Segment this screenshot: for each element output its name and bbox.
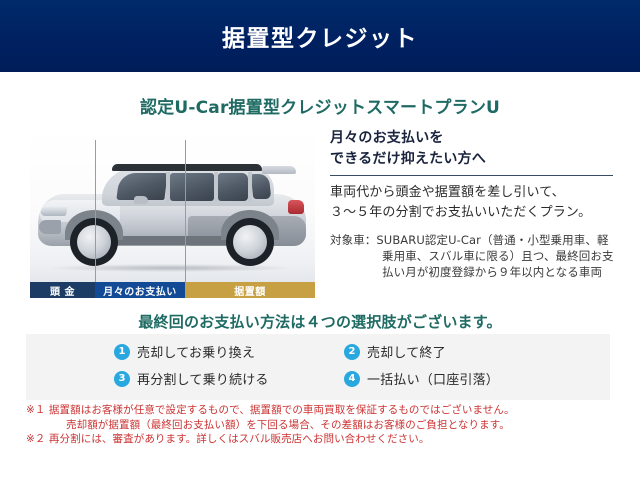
option-number-badge-1: 1	[114, 344, 130, 360]
plan-description-heading-line2: できるだけ抑えたい方へ	[330, 149, 615, 170]
car-rear-spoiler	[262, 166, 296, 174]
vehicle-photo	[30, 130, 315, 282]
option-number-badge-2: 2	[344, 344, 360, 360]
option-label-2: 売却して終了	[367, 342, 446, 361]
plan-subtitle: 認定U-Car据置型クレジットスマートプランU	[0, 93, 640, 118]
eligible-vehicle-note: 対象車：SUBARU認定U-Car（普通・小型乗用車、軽乗用車、スバル車に限る）…	[330, 232, 615, 280]
car-window-middle	[170, 173, 214, 201]
option-item-2: 2 売却して終了	[344, 342, 574, 361]
car-grille	[39, 220, 61, 234]
page-header: 据置型クレジット	[0, 0, 640, 72]
options-grid: 1 売却してお乗り換え 2 売却して終了 3 再分割して乗り続ける 4 一括払い…	[114, 342, 584, 388]
car-roof-rail	[112, 164, 262, 171]
segment-residual-value: 据置額	[185, 282, 315, 298]
option-label-1: 売却してお乗り換え	[137, 342, 255, 361]
option-item-4: 4 一括払い（口座引落）	[344, 369, 574, 388]
plan-description-heading: 月々のお支払いを できるだけ抑えたい方へ	[330, 128, 615, 170]
page-title: 据置型クレジット	[0, 0, 640, 72]
car-pillar-b	[166, 172, 170, 202]
option-item-3: 3 再分割して乗り続ける	[114, 369, 344, 388]
plan-description-body: 車両代から頭金や据置額を差し引いて、 ３～５年の分割でお支払いいただくプラン。	[330, 183, 615, 223]
suv-illustration	[38, 160, 308, 268]
car-window-rear	[218, 173, 248, 201]
car-taillight	[288, 200, 304, 214]
cost-segment-bar: 頭 金 月々のお支払い 据置額	[30, 282, 315, 298]
segment-down-payment: 頭 金	[30, 282, 95, 298]
plan-description-body-line1: 車両代から頭金や据置額を差し引いて、	[330, 183, 615, 203]
footnote-line-1: ※１ 据置額はお客様が任意で設定するもので、据置額での車両買取を保証するものでは…	[26, 404, 616, 418]
final-payment-options-panel: 1 売却してお乗り換え 2 売却して終了 3 再分割して乗り続ける 4 一括払い…	[26, 334, 610, 400]
car-rear-wheel	[226, 218, 274, 266]
car-side-mirror	[134, 196, 148, 204]
footnote-line-2: 売却額が据置額（最終回お支払い額）を下回る場合、その差額はお客様のご負担となりま…	[26, 419, 616, 433]
car-headlight	[40, 205, 68, 216]
vehicle-cost-breakdown-figure: 頭 金 月々のお支払い 据置額	[30, 130, 315, 298]
option-item-1: 1 売却してお乗り換え	[114, 342, 344, 361]
segment-divider-1	[95, 140, 96, 282]
option-label-3: 再分割して乗り続ける	[137, 369, 269, 388]
segment-monthly-payment: 月々のお支払い	[95, 282, 185, 298]
plan-description-column: 月々のお支払いを できるだけ抑えたい方へ 車両代から頭金や据置額を差し引いて、 …	[330, 128, 615, 280]
option-number-badge-4: 4	[344, 371, 360, 387]
credit-plan-infographic: 据置型クレジット 認定U-Car据置型クレジットスマートプランU	[0, 0, 640, 480]
option-number-badge-3: 3	[114, 371, 130, 387]
car-pillar-c	[214, 172, 218, 202]
footnote-line-3: ※２ 再分割には、審査があります。詳しくはスバル販売店へお問い合わせください。	[26, 433, 616, 447]
footnotes: ※１ 据置額はお客様が任意で設定するもので、据置額での車両買取を保証するものでは…	[26, 404, 616, 447]
plan-description-body-line2: ３～５年の分割でお支払いいただくプラン。	[330, 203, 615, 223]
heading-divider	[330, 175, 613, 176]
plan-description-heading-line1: 月々のお支払いを	[330, 128, 615, 149]
segment-divider-2	[185, 140, 186, 282]
final-payment-options-heading: 最終回のお支払い方法は４つの選択肢がございます。	[0, 311, 640, 332]
car-front-wheel	[70, 218, 118, 266]
option-label-4: 一括払い（口座引落）	[367, 369, 499, 388]
car-pillar-d	[248, 172, 252, 202]
